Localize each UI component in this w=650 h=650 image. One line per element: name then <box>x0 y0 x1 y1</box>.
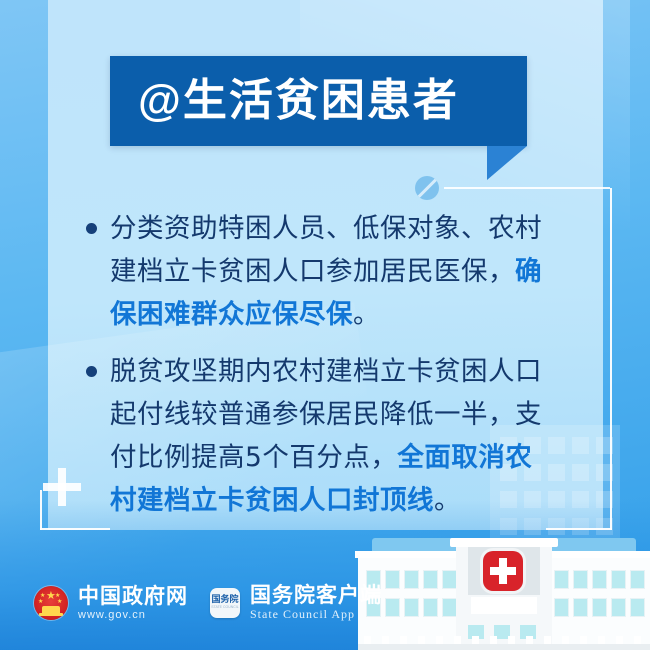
header-ribbon: @生活贫困患者 <box>110 56 527 146</box>
hospital-window <box>423 570 438 589</box>
app-logo-group[interactable]: 国务院 STATE COUNCIL 国务院客户端 State Council A… <box>210 583 382 622</box>
emblem-gate <box>42 606 60 613</box>
emblem-star-d: ★ <box>57 599 62 605</box>
bullet-dot-icon <box>86 366 97 377</box>
ribbon-fold-triangle <box>487 146 527 180</box>
hospital-window <box>592 598 607 617</box>
hospital-left-wing-cap <box>355 551 465 558</box>
footer-logos: ★ ★ ★ ★ ★ 中国政府网 www.gov.cn 国务院 STATE COU… <box>34 583 382 622</box>
hospital-window <box>630 598 645 617</box>
hospital-sign-panel <box>471 597 537 614</box>
hospital-window <box>404 598 419 617</box>
plus-icon-vertical <box>58 468 66 506</box>
hospital-window <box>573 570 588 589</box>
bullet-text-segment: 。 <box>353 299 380 330</box>
bullet-text: 分类资助特困人员、低保对象、农村建档立卡贫困人口参加居民医保，确保困难群众应保尽… <box>110 207 556 336</box>
hospital-window <box>554 570 569 589</box>
hospital-ground <box>358 644 650 650</box>
slashed-circle-icon <box>415 176 439 200</box>
background-building-window <box>596 464 613 481</box>
hospital-window <box>611 570 626 589</box>
hospital-right-wing <box>546 556 650 644</box>
hospital-building <box>358 538 650 650</box>
hospital-window <box>385 570 400 589</box>
page-title: @生活贫困患者 <box>138 79 459 123</box>
hospital-window <box>592 570 607 589</box>
plus-icon <box>43 468 81 506</box>
bullet-text-segment: 。 <box>434 485 461 516</box>
background-building-window <box>572 437 589 454</box>
national-emblem-icon: ★ ★ ★ ★ ★ <box>34 586 68 620</box>
app-name-en: State Council App <box>250 607 382 622</box>
background-building-window <box>572 464 589 481</box>
bullet-item: 脱贫攻坚期内农村建档立卡贫困人口起付线较普通参保居民降低一半，支付比例提高5个百… <box>86 350 556 522</box>
emblem-base <box>39 613 63 616</box>
hospital-window <box>385 598 400 617</box>
poster-canvas: @生活贫困患者 分类资助特困人员、低保对象、农村建档立卡贫困人口参加居民医保，确… <box>0 0 650 650</box>
background-building-window <box>596 437 613 454</box>
hospital-window <box>554 598 569 617</box>
bullet-list: 分类资助特困人员、低保对象、农村建档立卡贫困人口参加居民医保，确保困难群众应保尽… <box>86 207 556 536</box>
hospital-tower-cap <box>450 538 558 547</box>
gov-site-name: 中国政府网 <box>78 584 188 608</box>
hospital-window <box>630 570 645 589</box>
app-logo-text: 国务院客户端 State Council App <box>250 583 382 622</box>
app-icon-label: 国务院 <box>211 595 238 605</box>
red-cross-icon <box>483 551 523 591</box>
hospital-window <box>442 598 457 617</box>
state-council-app-icon: 国务院 STATE COUNCIL <box>210 588 240 618</box>
bullet-dot-icon <box>86 223 97 234</box>
hospital-right-wing-cap <box>543 551 650 558</box>
emblem-star-c: ★ <box>38 599 43 605</box>
app-icon-sublabel: STATE COUNCIL <box>211 605 238 610</box>
gov-logo-text: 中国政府网 www.gov.cn <box>78 584 188 622</box>
app-name: 国务院客户端 <box>250 583 382 607</box>
red-cross-icon-vertical <box>499 558 507 584</box>
hospital-window <box>423 598 438 617</box>
horizontal-rule <box>444 187 610 189</box>
hospital-window <box>611 598 626 617</box>
gov-logo-group[interactable]: ★ ★ ★ ★ ★ 中国政府网 www.gov.cn <box>34 584 188 622</box>
bullet-item: 分类资助特困人员、低保对象、农村建档立卡贫困人口参加居民医保，确保困难群众应保尽… <box>86 207 556 336</box>
hospital-window <box>573 598 588 617</box>
bullet-text: 脱贫攻坚期内农村建档立卡贫困人口起付线较普通参保居民降低一半，支付比例提高5个百… <box>110 350 556 522</box>
hospital-window <box>404 570 419 589</box>
gov-site-url: www.gov.cn <box>78 608 188 622</box>
hospital-window <box>442 570 457 589</box>
bullet-text-segment: 分类资助特困人员、低保对象、农村建档立卡贫困人口参加居民医保， <box>110 213 542 287</box>
